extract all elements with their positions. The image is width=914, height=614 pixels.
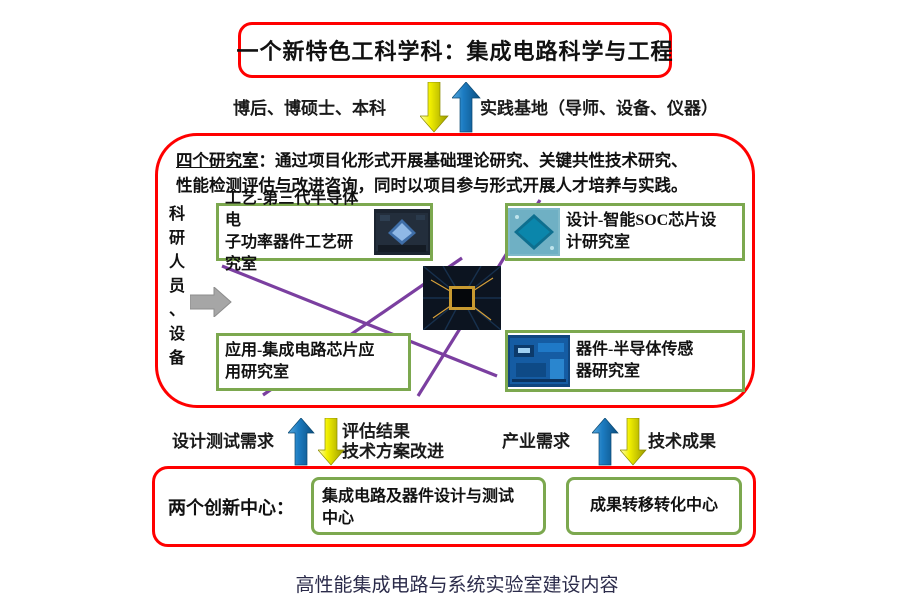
soc-chip-photo <box>508 208 560 256</box>
centers-label: 两个创新中心： <box>168 494 294 520</box>
figure-caption: 高性能集成电路与系统实验室建设内容 <box>0 570 914 597</box>
flow-label-practice-base: 实践基地（导师、设备、仪器） <box>480 99 718 119</box>
lab-box-design[interactable]: 设计-智能SOC芯片设计研究室 <box>505 203 745 261</box>
lab-label-design: 设计-智能SOC芯片设计研究室 <box>560 210 722 254</box>
up-arrow-blue-top <box>452 82 482 134</box>
title-box: 一个新特色工科学科：集成电路科学与工程 <box>238 22 672 78</box>
flow-label-industry-demand: 产业需求 <box>502 432 570 452</box>
lab-box-device[interactable]: 器件-半导体传感器研究室 <box>505 330 745 392</box>
diagram-canvas: 一个新特色工科学科：集成电路科学与工程 博后、博硕士、本科 实践基地（导师、设备… <box>0 0 914 614</box>
center-label-design-test: 集成电路及器件设计与测试 中心 <box>314 480 522 536</box>
semiconductor-device-photo <box>374 209 430 255</box>
central-ic-chip-photo <box>423 266 501 330</box>
down-arrow-yellow-top <box>420 82 450 134</box>
pcb-board-photo <box>508 335 570 387</box>
flow-label-students: 博后、博硕士、本科 <box>233 99 386 119</box>
lab-box-process[interactable]: 工艺-第三代半导体电子功率器件工艺研究室 <box>216 203 433 261</box>
lab-box-application[interactable]: 应用-集成电路芯片应用研究室 <box>216 333 411 391</box>
flow-label-tech-results: 技术成果 <box>648 432 716 452</box>
labs-description-line1-rest: ：通过项目化形式开展基础理论研究、关键共性技术研究、 <box>259 151 688 170</box>
center-box-transfer[interactable]: 成果转移转化中心 <box>566 477 742 535</box>
lab-label-process: 工艺-第三代半导体电子功率器件工艺研究室 <box>219 188 374 276</box>
lab-label-application: 应用-集成电路芯片应用研究室 <box>219 340 380 384</box>
labs-description-heading: 四个研究室 <box>176 151 259 170</box>
center-label-transfer: 成果转移转化中心 <box>582 489 726 523</box>
center-1-line2: 中心 <box>322 508 514 530</box>
flow-label-assessment-line2: 技术方案改进 <box>342 442 444 462</box>
flow-label-test-demand: 设计测试需求 <box>172 432 274 452</box>
center-1-line1: 集成电路及器件设计与测试 <box>322 486 514 508</box>
side-vertical-label: 科研人员、设备 <box>166 203 188 371</box>
flow-label-assessment: 评估结果 技术方案改进 <box>342 422 444 462</box>
down-arrow-yellow-right <box>620 418 648 466</box>
page-title: 一个新特色工科学科：集成电路科学与工程 <box>237 34 674 66</box>
flow-label-assessment-line1: 评估结果 <box>342 422 444 442</box>
center-box-design-test[interactable]: 集成电路及器件设计与测试 中心 <box>311 477 546 535</box>
down-arrow-yellow-left <box>318 418 346 466</box>
up-arrow-blue-left <box>288 418 316 466</box>
up-arrow-blue-right <box>592 418 620 466</box>
lab-label-device: 器件-半导体传感器研究室 <box>570 339 699 383</box>
gray-right-arrow-icon <box>190 287 232 317</box>
